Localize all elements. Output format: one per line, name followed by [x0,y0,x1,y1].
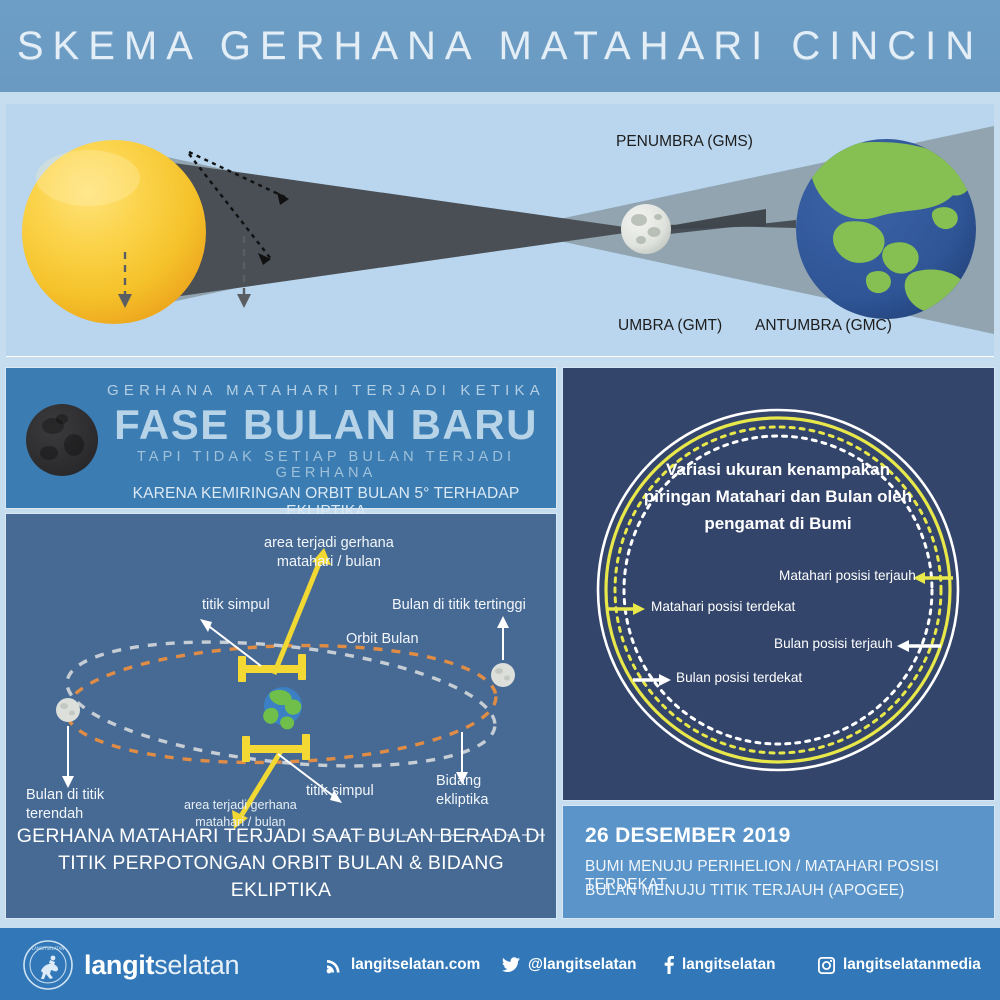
apparent-size-title-l2: piringan Matahari dan Bulan oleh [603,483,953,510]
label-moon-highest: Bulan di titik tertinggi [392,596,526,615]
rss-icon [326,957,343,974]
apparent-size-panel: Variasi ukuran kenampakan piringan Matah… [563,368,994,800]
node-marker-top [238,654,306,682]
moon-lowest-icon [56,698,80,722]
seal-rider-figure [41,956,58,979]
twitter-icon [502,957,520,973]
label-node-bottom: titik simpul [306,782,374,801]
label-eclipse-area-top-l1: area terjadi gerhana [264,534,394,553]
brand-wordmark: langitselatan [84,950,239,981]
label-node-top: titik simpul [202,596,270,615]
footer-link-instagram[interactable]: langitselatanmedia [818,956,981,974]
label-moon-farthest: Bulan posisi terjauh [774,636,893,651]
label-moon-lowest-l1: Bulan di titik [26,786,104,805]
new-moon-line-1: GERHANA MATAHARI TERJADI KETIKA [106,382,546,399]
brand-wordmark-light: selatan [154,950,239,980]
label-sun-farthest: Matahari posisi terjauh [779,568,916,583]
new-moon-phase-panel: GERHANA MATAHARI TERJADI KETIKA FASE BUL… [6,368,556,508]
label-moon-nearest: Bulan posisi terdekat [676,670,802,685]
label-moon-lowest-l2: terendah [26,805,104,824]
event-date: 26 DESEMBER 2019 [585,824,791,848]
footer-link-twitter-label: @langitselatan [528,956,636,974]
new-moon-line-3: TAPI TIDAK SETIAP BULAN TERJADI GERHANA [106,449,546,481]
new-moon-text-block: GERHANA MATAHARI TERJADI KETIKA FASE BUL… [106,382,546,521]
footer-bar: LANGITSELATAN langitselatan langitselata… [0,928,1000,1000]
label-sun-nearest: Matahari posisi terdekat [651,599,795,614]
footer-link-website-label: langitselatan.com [351,956,480,974]
label-ecliptic-plane-l1: Bidang [436,772,488,791]
page-header: SKEMA GERHANA MATAHARI CINCIN [0,0,1000,92]
label-eclipse-area-bottom-l1: area terjadi gerhana [184,797,297,814]
page-title: SKEMA GERHANA MATAHARI CINCIN [17,24,983,69]
orbit-caption-line-1: GERHANA MATAHARI TERJADI SAAT BULAN BERA… [6,823,556,850]
footer-link-twitter[interactable]: @langitselatan [502,956,636,974]
new-moon-icon [26,404,98,476]
footer-link-facebook[interactable]: langitselatan [664,956,776,974]
infographic-page: SKEMA GERHANA MATAHARI CINCIN [0,0,1000,1000]
apparent-size-svg [563,368,994,800]
apparent-size-title-l3: pengamat di Bumi [603,510,953,537]
moon-sphere [621,204,671,254]
facebook-icon [664,956,674,974]
brand-wordmark-bold: langit [84,950,154,980]
label-eclipse-area-top-l2: matahari / bulan [264,553,394,572]
node-top-leader [206,624,261,666]
new-moon-headline: FASE BULAN BARU [106,401,546,448]
footer-link-facebook-label: langitselatan [682,956,776,974]
event-date-panel: 26 DESEMBER 2019 BUMI MENUJU PERIHELION … [563,806,994,918]
apparent-size-title-l1: Variasi ukuran kenampakan [603,456,953,483]
moon-highest-icon [491,663,515,687]
event-detail-line-2: BULAN MENUJU TITIK TERJAUH (APOGEE) [585,882,904,900]
apparent-size-title: Variasi ukuran kenampakan piringan Matah… [603,456,953,537]
footer-link-instagram-label: langitselatanmedia [843,956,981,974]
instagram-icon [818,957,835,974]
moon-orbit-panel: area terjadi gerhana matahari / bulan ti… [6,514,556,918]
label-penumbra: PENUMBRA (GMS) [616,133,753,151]
label-ecliptic-plane-l2: ekliptika [436,791,488,810]
label-moon-lowest: Bulan di titik terendah [26,786,104,824]
seal-text: LANGITSELATAN [32,946,64,951]
footer-link-website[interactable]: langitselatan.com [326,956,480,974]
langitselatan-seal-logo: LANGITSELATAN [22,939,74,991]
label-ecliptic-plane: Bidang ekliptika [436,772,488,810]
orbit-caption: GERHANA MATAHARI TERJADI SAAT BULAN BERA… [6,823,556,904]
label-antumbra: ANTUMBRA (GMC) [755,317,892,335]
eclipse-geometry-panel: PENUMBRA (GMS) UMBRA (GMT) ANTUMBRA (GMC… [6,104,994,356]
label-eclipse-area-top: area terjadi gerhana matahari / bulan [264,534,394,572]
orbit-caption-line-2: TITIK PERPOTONGAN ORBIT BULAN & BIDANG E… [6,850,556,904]
label-umbra: UMBRA (GMT) [618,317,722,335]
label-moon-orbit: Orbit Bulan [346,630,419,649]
